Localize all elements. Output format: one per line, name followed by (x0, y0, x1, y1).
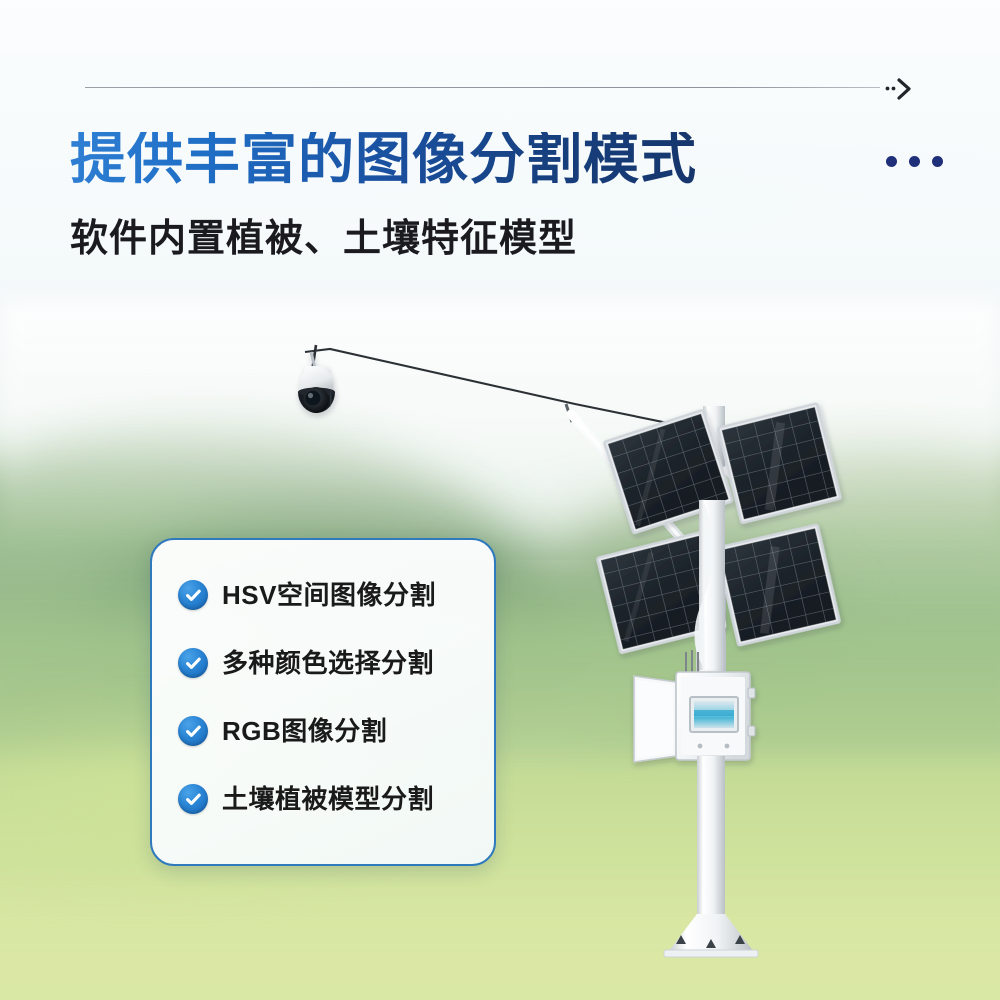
solar-panel-icon (718, 403, 841, 523)
chevron-right-motion-icon[interactable] (884, 77, 914, 101)
feature-label: 多种颜色选择分割 (222, 650, 434, 676)
page-header: 提供丰富的图像分割模式 软件内置植被、土壤特征模型 (0, 0, 1000, 270)
feature-label: HSV空间图像分割 (222, 582, 436, 608)
list-item[interactable]: 多种颜色选择分割 (178, 638, 478, 688)
list-item[interactable]: 土壤植被模型分割 (178, 774, 478, 824)
page-title: 提供丰富的图像分割模式 (70, 132, 697, 188)
dot-1 (886, 156, 897, 167)
solar-panel-icon (716, 525, 840, 646)
feature-label: 土壤植被模型分割 (222, 786, 434, 812)
ptz-dome-camera-icon (298, 352, 335, 413)
feature-label: RGB图像分割 (222, 718, 387, 744)
list-item[interactable]: RGB图像分割 (178, 706, 478, 756)
list-item[interactable]: HSV空间图像分割 (178, 570, 478, 620)
pole-lower-section (664, 756, 758, 957)
dot-3 (932, 156, 943, 167)
page-subtitle: 软件内置植被、土壤特征模型 (70, 207, 577, 262)
pole-front-segment (694, 500, 725, 670)
check-circle-icon (178, 784, 208, 814)
check-circle-icon (178, 716, 208, 746)
check-circle-icon (178, 580, 208, 610)
dot-2 (909, 156, 920, 167)
check-circle-icon (178, 648, 208, 678)
feature-list: HSV空间图像分割 多种颜色选择分割 RGB图像分割 (178, 570, 478, 824)
feature-card: HSV空间图像分割 多种颜色选择分割 RGB图像分割 (150, 538, 496, 866)
three-dots-icon (886, 156, 943, 167)
control-cabinet-icon (634, 672, 755, 762)
header-divider (85, 87, 880, 88)
support-cable-group (305, 345, 712, 432)
